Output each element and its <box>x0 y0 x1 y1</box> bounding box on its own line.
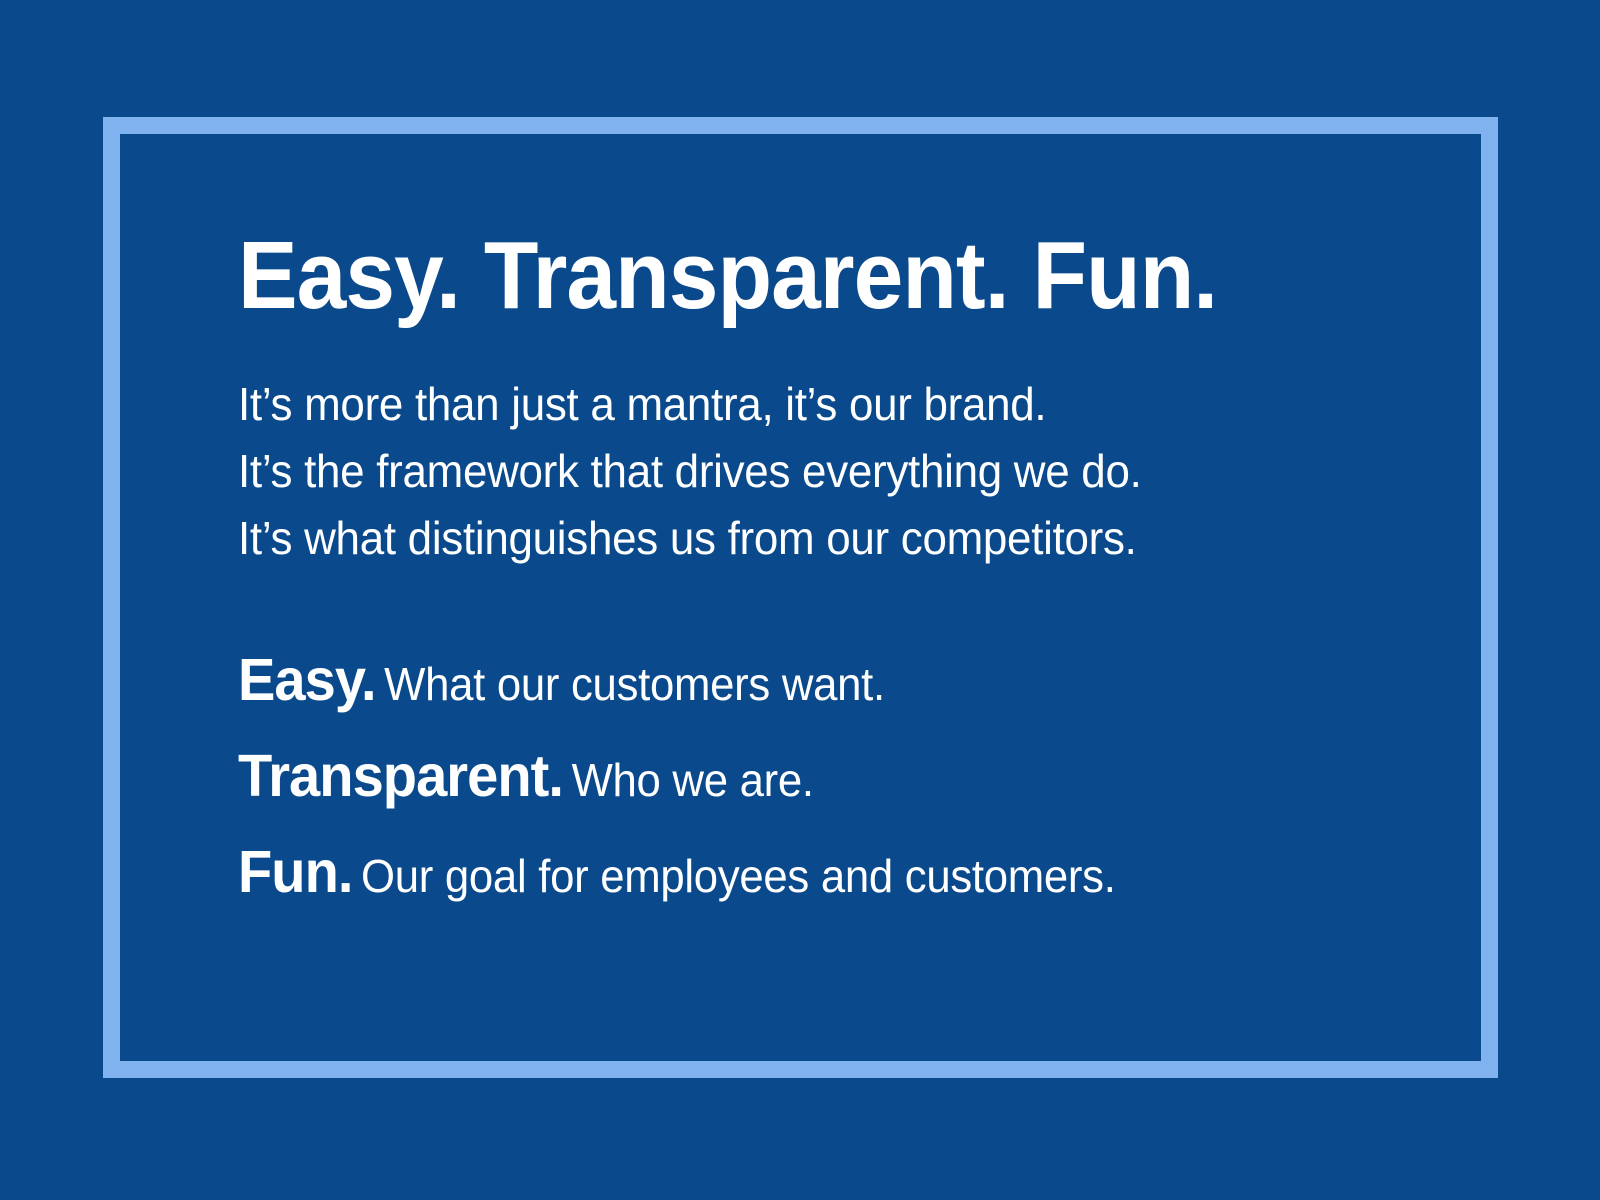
intro-paragraph: It’s more than just a mantra, it’s our b… <box>238 371 1368 572</box>
brand-mantra-slide: Easy. Transparent. Fun. It’s more than j… <box>0 0 1600 1200</box>
definition-item-fun: Fun.Our goal for employees and customers… <box>238 832 1312 928</box>
page-title: Easy. Transparent. Fun. <box>238 225 1289 327</box>
definition-description-fun: Our goal for employees and customers. <box>361 850 1116 902</box>
definition-term-fun: Fun. <box>238 839 352 905</box>
definition-item-easy: Easy.What our customers want. <box>238 640 1312 736</box>
intro-line-2: It’s the framework that drives everythin… <box>238 438 1317 505</box>
definition-description-transparent: Who we are. <box>572 754 814 806</box>
definition-item-transparent: Transparent.Who we are. <box>238 736 1312 832</box>
intro-line-3: It’s what distinguishes us from our comp… <box>238 505 1317 572</box>
definition-list: Easy.What our customers want. Transparen… <box>238 640 1368 928</box>
definition-description-easy: What our customers want. <box>384 658 885 710</box>
intro-line-1: It’s more than just a mantra, it’s our b… <box>238 371 1317 438</box>
slide-content: Easy. Transparent. Fun. It’s more than j… <box>238 225 1368 928</box>
definition-term-easy: Easy. <box>238 647 376 713</box>
definition-term-transparent: Transparent. <box>238 743 563 809</box>
